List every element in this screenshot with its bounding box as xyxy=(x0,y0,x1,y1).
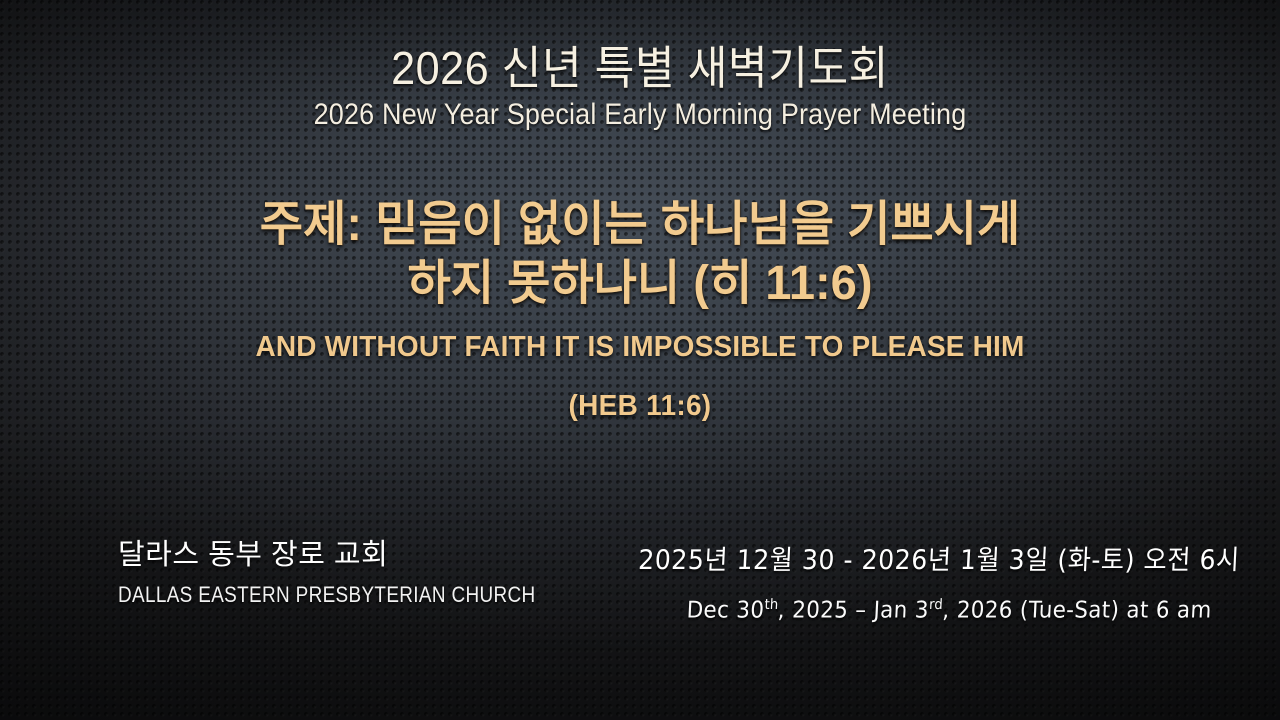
presentation-slide: 2026 신년 특별 새벽기도회 2026 New Year Special E… xyxy=(0,0,1280,720)
schedule-dates-english: Dec 30th, 2025 – Jan 3rd, 2026 (Tue-Sat)… xyxy=(636,598,1213,624)
footer-row: 달라스 동부 장로 교회 DALLAS EASTERN PRESBYTERIAN… xyxy=(0,540,1280,650)
slide-title-english: 2026 New Year Special Early Morning Pray… xyxy=(64,99,1216,131)
church-name-english: DALLAS EASTERN PRESBYTERIAN CHURCH xyxy=(118,583,536,607)
theme-scripture-reference: (HEB 11:6) xyxy=(22,390,1257,423)
schedule-en-segment-3: , 2026 (Tue-Sat) at 6 am xyxy=(942,597,1213,623)
slide-content: 2026 신년 특별 새벽기도회 2026 New Year Special E… xyxy=(0,0,1280,720)
schedule-dates-korean: 2025년 12월 30 - 2026년 1월 3일 (화-토) 오전 6시 xyxy=(638,546,1241,576)
schedule-en-segment-1: Dec 30 xyxy=(686,597,765,623)
header-block: 2026 신년 특별 새벽기도회 2026 New Year Special E… xyxy=(0,44,1280,131)
schedule-block: 2025년 12월 30 - 2026년 1월 3일 (화-토) 오전 6시 D… xyxy=(593,546,1240,624)
theme-korean-line-1: 주제: 믿음이 없이는 하나님을 기쁘시게 xyxy=(13,196,1267,255)
theme-english-line: AND WITHOUT FAITH IT IS IMPOSSIBLE TO PL… xyxy=(22,331,1257,364)
theme-korean-line-2: 하지 못하나니 (히 11:6) xyxy=(13,255,1267,314)
church-identity-block: 달라스 동부 장로 교회 DALLAS EASTERN PRESBYTERIAN… xyxy=(118,540,603,607)
theme-block: 주제: 믿음이 없이는 하나님을 기쁘시게 하지 못하나니 (히 11:6) A… xyxy=(0,196,1280,423)
church-name-korean: 달라스 동부 장로 교회 xyxy=(118,540,603,572)
slide-title-korean: 2026 신년 특별 새벽기도회 xyxy=(38,44,1241,93)
schedule-en-segment-2: , 2025 – Jan 3 xyxy=(778,597,930,623)
